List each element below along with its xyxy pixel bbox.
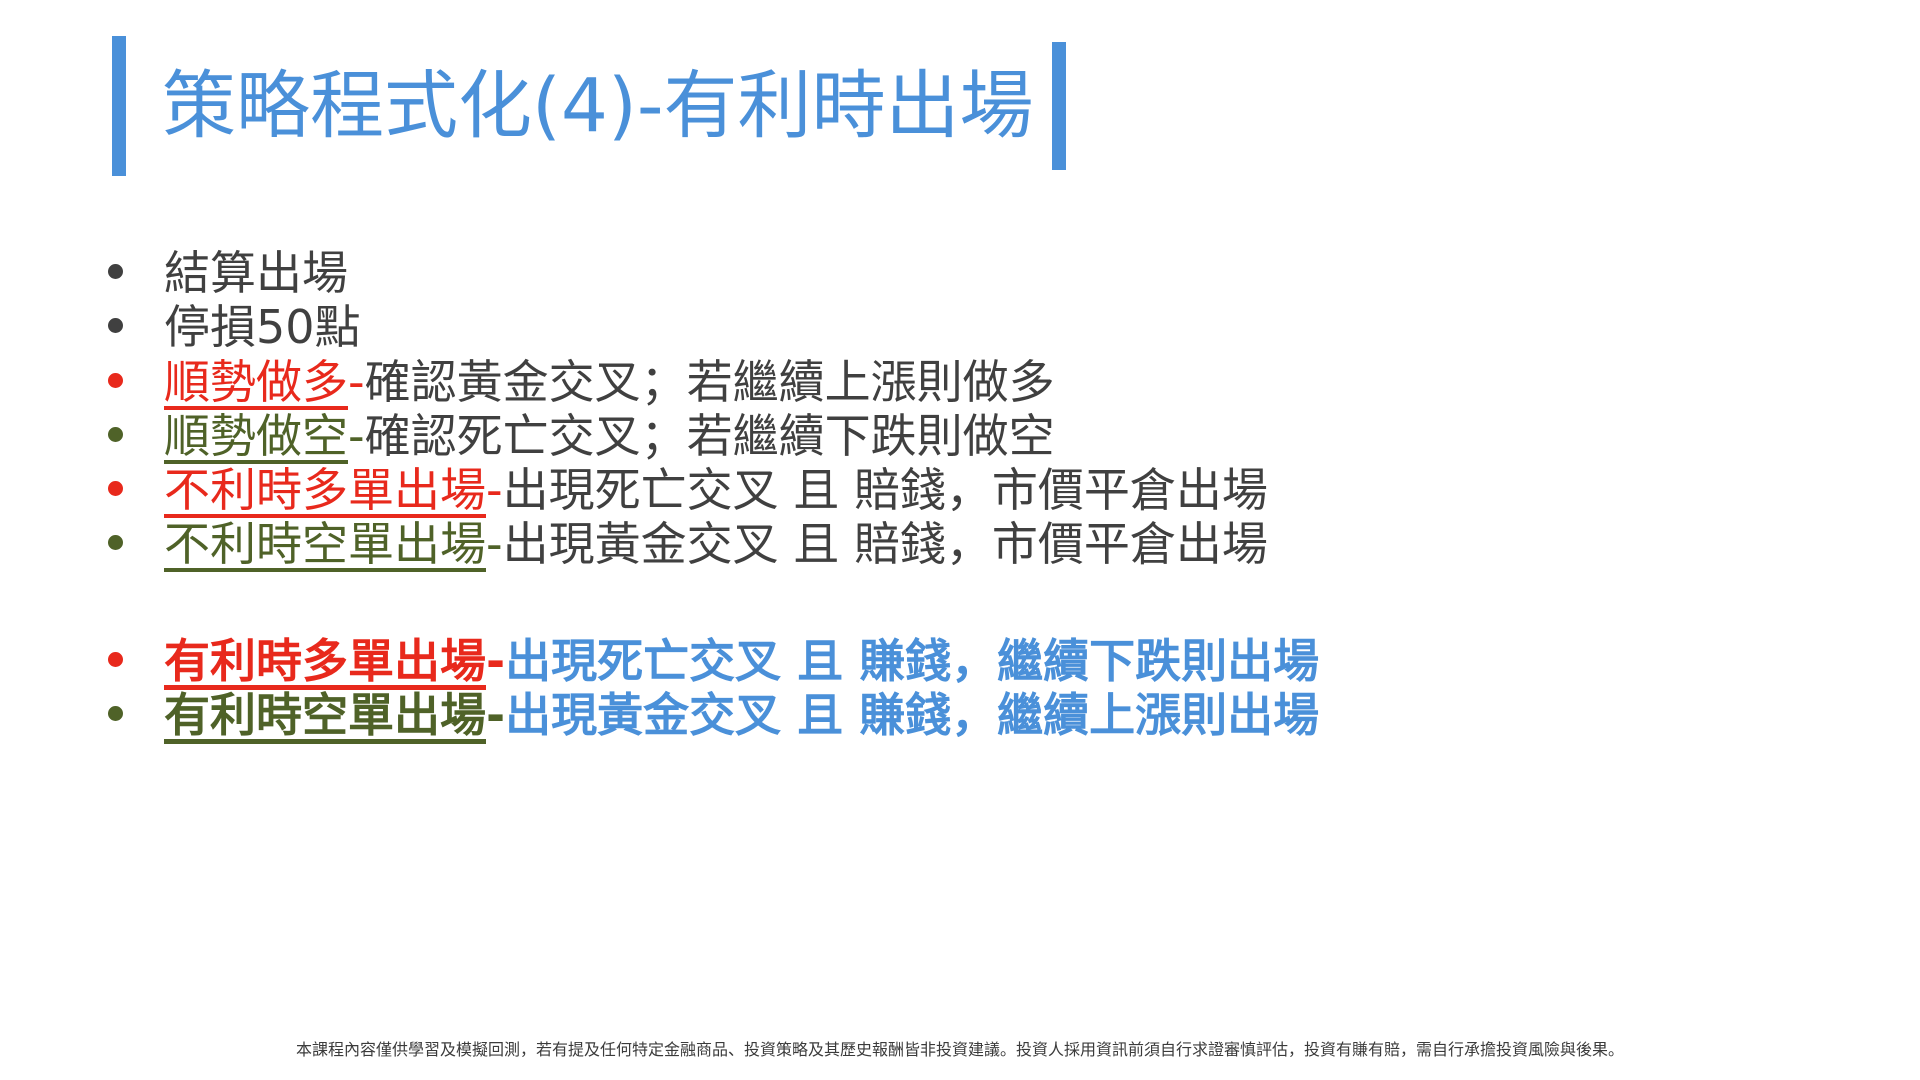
list-item-tail: 出現死亡交叉 且 賺錢，繼續下跌則出場 bbox=[505, 634, 1319, 688]
list-item-lead: 不利時多單出場 bbox=[164, 463, 486, 517]
list-group-spacer bbox=[108, 572, 1868, 634]
list-item: 順勢做空-確認死亡交叉；若繼續下跌則做空 bbox=[108, 409, 1868, 463]
bullet-dot-icon bbox=[108, 517, 164, 550]
list-item-lead: 不利時空單出場 bbox=[164, 517, 486, 571]
list-item: 順勢做多-確認黃金交叉；若繼續上漲則做多 bbox=[108, 355, 1868, 409]
list-item-tail: 出現死亡交叉 且 賠錢，市價平倉出場 bbox=[503, 463, 1268, 517]
list-item-separator: - bbox=[348, 355, 365, 409]
list-item-text: 有利時多單出場-出現死亡交叉 且 賺錢，繼續下跌則出場 bbox=[164, 634, 1868, 688]
bullet-dot-icon bbox=[108, 246, 164, 279]
list-item-separator: - bbox=[486, 634, 505, 688]
page-title: 策略程式化(4)-有利時出場 bbox=[126, 69, 1052, 143]
bullet-dot-icon bbox=[108, 463, 164, 496]
list-item-lead: 順勢做多 bbox=[164, 355, 348, 409]
list-item-separator: - bbox=[486, 688, 505, 742]
list-item: 不利時多單出場-出現死亡交叉 且 賠錢，市價平倉出場 bbox=[108, 463, 1868, 517]
bullet-dot-icon bbox=[108, 355, 164, 388]
list-item-lead: 順勢做空 bbox=[164, 409, 348, 463]
list-item-text: 不利時空單出場-出現黃金交叉 且 賠錢，市價平倉出場 bbox=[164, 517, 1868, 571]
list-item-text: 順勢做空-確認死亡交叉；若繼續下跌則做空 bbox=[164, 409, 1868, 463]
list-item-tail: 出現黃金交叉 且 賺錢，繼續上漲則出場 bbox=[505, 688, 1319, 742]
list-item-tail: 確認死亡交叉；若繼續下跌則做空 bbox=[365, 409, 1055, 463]
list-item-text: 結算出場 bbox=[164, 246, 1868, 300]
bullet-list: 結算出場停損50點順勢做多-確認黃金交叉；若繼續上漲則做多順勢做空-確認死亡交叉… bbox=[108, 246, 1868, 742]
title-accent-bar-right bbox=[1052, 42, 1066, 170]
slide-title-group: 策略程式化(4)-有利時出場 bbox=[112, 36, 1066, 176]
list-item: 有利時多單出場-出現死亡交叉 且 賺錢，繼續下跌則出場 bbox=[108, 634, 1868, 688]
bullet-dot-icon bbox=[108, 634, 164, 667]
list-item-text: 不利時多單出場-出現死亡交叉 且 賠錢，市價平倉出場 bbox=[164, 463, 1868, 517]
list-item: 停損50點 bbox=[108, 300, 1868, 354]
bullet-dot-icon bbox=[108, 300, 164, 333]
list-item: 不利時空單出場-出現黃金交叉 且 賠錢，市價平倉出場 bbox=[108, 517, 1868, 571]
list-item-text: 順勢做多-確認黃金交叉；若繼續上漲則做多 bbox=[164, 355, 1868, 409]
footer-disclaimer: 本課程內容僅供學習及模擬回測，若有提及任何特定金融商品、投資策略及其歷史報酬皆非… bbox=[0, 1036, 1920, 1060]
list-item-separator: - bbox=[348, 409, 365, 463]
list-item-lead: 有利時多單出場 bbox=[164, 634, 486, 688]
title-accent-bar-left bbox=[112, 36, 126, 176]
list-item-separator: - bbox=[486, 463, 503, 517]
list-item-lead: 有利時空單出場 bbox=[164, 688, 486, 742]
list-item-lead: 結算出場 bbox=[164, 246, 348, 300]
list-item-lead: 停損50點 bbox=[164, 300, 361, 354]
list-item-tail: 確認黃金交叉；若繼續上漲則做多 bbox=[365, 355, 1055, 409]
bullet-dot-icon bbox=[108, 409, 164, 442]
bullet-dot-icon bbox=[108, 688, 164, 721]
list-item-text: 有利時空單出場-出現黃金交叉 且 賺錢，繼續上漲則出場 bbox=[164, 688, 1868, 742]
list-item: 有利時空單出場-出現黃金交叉 且 賺錢，繼續上漲則出場 bbox=[108, 688, 1868, 742]
list-item-tail: 出現黃金交叉 且 賠錢，市價平倉出場 bbox=[503, 517, 1268, 571]
list-item-text: 停損50點 bbox=[164, 300, 1868, 354]
list-item: 結算出場 bbox=[108, 246, 1868, 300]
list-item-separator: - bbox=[486, 517, 503, 571]
